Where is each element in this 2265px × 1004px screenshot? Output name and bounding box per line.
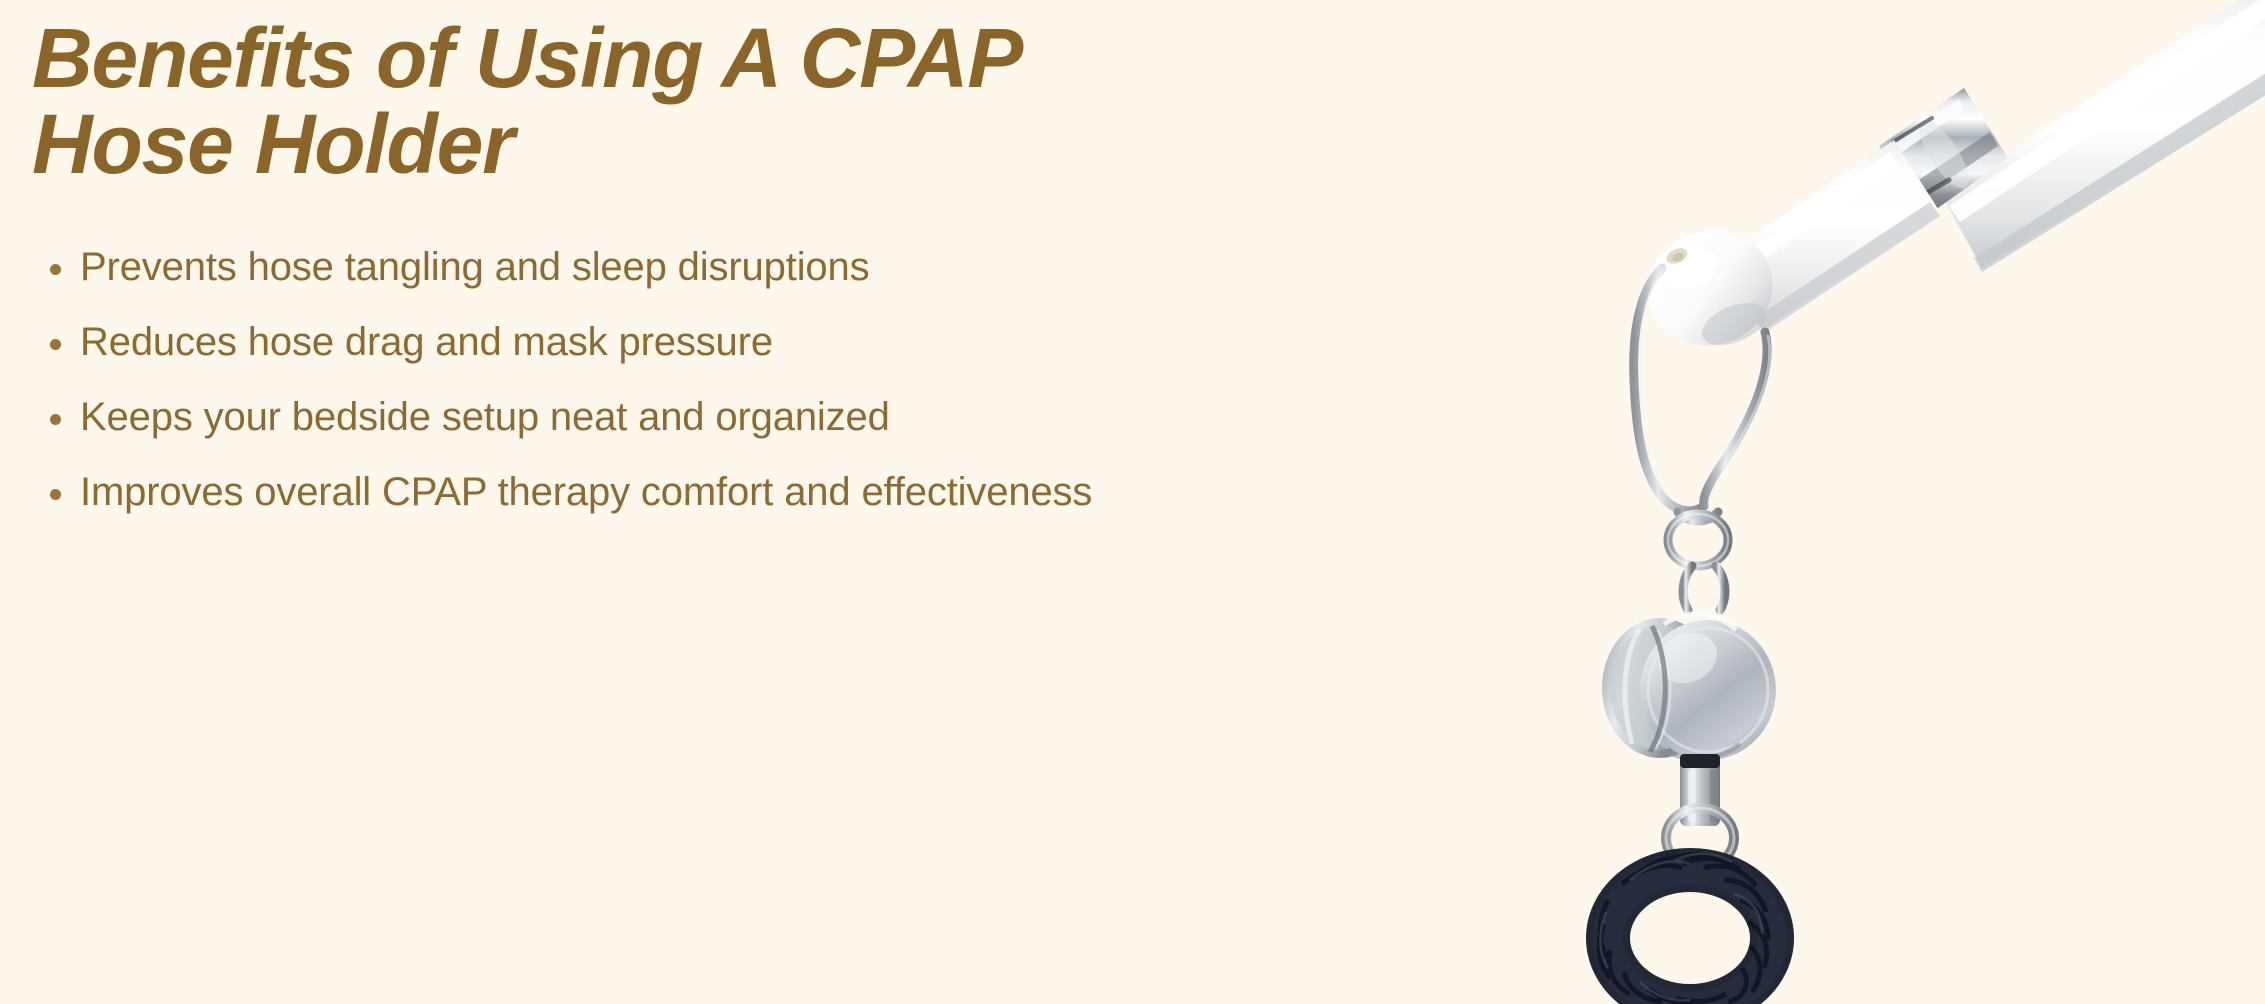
bullet-icon: [50, 264, 61, 275]
list-item-label: Reduces hose drag and mask pressure: [80, 322, 773, 362]
product-image: [1512, 0, 2265, 1004]
bullet-icon: [50, 339, 61, 350]
list-item: Reduces hose drag and mask pressure: [42, 322, 1162, 362]
list-item-label: Improves overall CPAP therapy comfort an…: [80, 472, 1092, 512]
benefits-list: Prevents hose tangling and sleep disrupt…: [42, 247, 1162, 512]
benefits-text-column: Benefits of Using A CPAP Hose Holder Pre…: [32, 0, 1172, 1004]
bullet-icon: [50, 414, 61, 425]
list-item: Improves overall CPAP therapy comfort an…: [42, 472, 1162, 512]
list-item: Keeps your bedside setup neat and organi…: [42, 397, 1162, 437]
page-title: Benefits of Using A CPAP Hose Holder: [32, 16, 1092, 187]
bullet-icon: [50, 489, 61, 500]
retractable-reel: [1602, 614, 1776, 760]
page-title-line-2: Hose Holder: [32, 102, 1092, 188]
page-title-line-1: Benefits of Using A CPAP: [32, 16, 1092, 102]
list-item-label: Prevents hose tangling and sleep disrupt…: [80, 247, 869, 287]
list-item-label: Keeps your bedside setup neat and organi…: [80, 397, 890, 437]
cpap-hose-holder-illustration: [1512, 0, 2265, 1004]
list-item: Prevents hose tangling and sleep disrupt…: [42, 247, 1162, 287]
benefits-section: Benefits of Using A CPAP Hose Holder Pre…: [0, 0, 2265, 1004]
